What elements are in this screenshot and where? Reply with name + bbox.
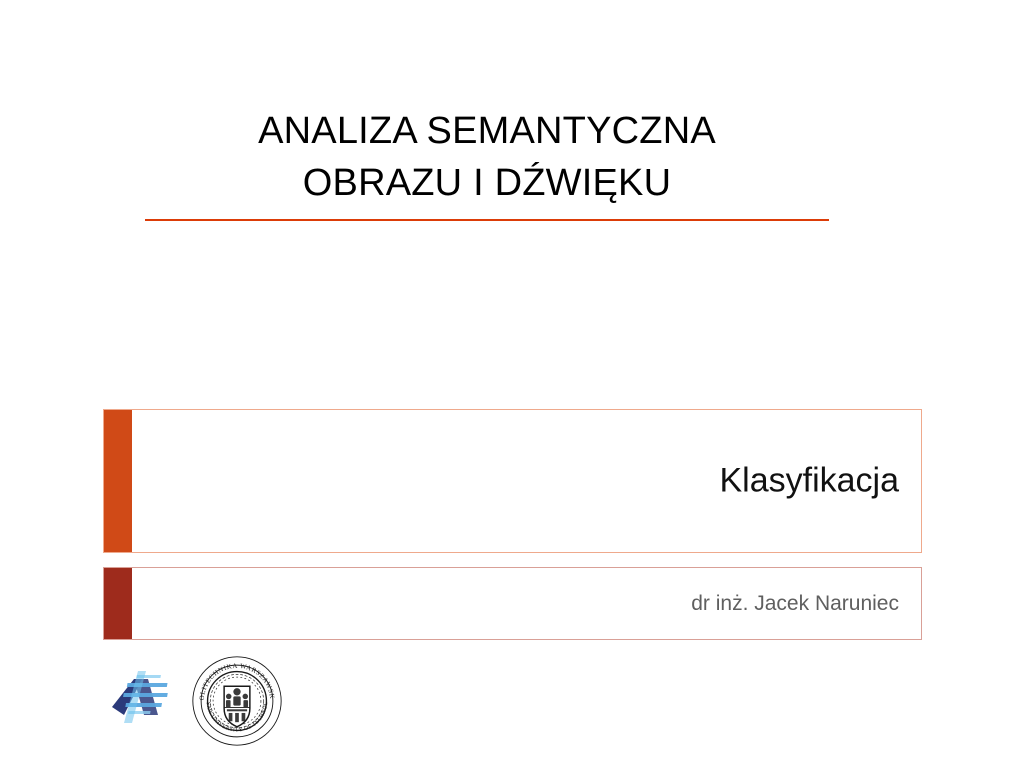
slide-canvas: ANALIZA SEMANTYCZNA OBRAZU I DŹWIĘKU Kla… (0, 0, 1024, 768)
title-line-2: OBRAZU I DŹWIĘKU (145, 157, 829, 209)
topic-label: Klasyfikacja (719, 462, 899, 501)
page-title: ANALIZA SEMANTYCZNA OBRAZU I DŹWIĘKU (145, 105, 829, 209)
logo-group: POLITECHNIKA WARSZAWSKA WARSAW UNIVERSIT… (103, 655, 333, 750)
topic-panel-accent-bar (104, 410, 132, 552)
ae-mark-icon (108, 669, 174, 725)
author-panel-accent-bar (104, 568, 132, 639)
title-line-1: ANALIZA SEMANTYCZNA (145, 105, 829, 157)
topic-panel: Klasyfikacja (103, 409, 922, 553)
title-divider (145, 219, 829, 221)
author-panel: dr inż. Jacek Naruniec (103, 567, 922, 640)
author-label: dr inż. Jacek Naruniec (691, 592, 899, 616)
university-seal-icon: POLITECHNIKA WARSZAWSKA WARSAW UNIVERSIT… (191, 655, 283, 747)
